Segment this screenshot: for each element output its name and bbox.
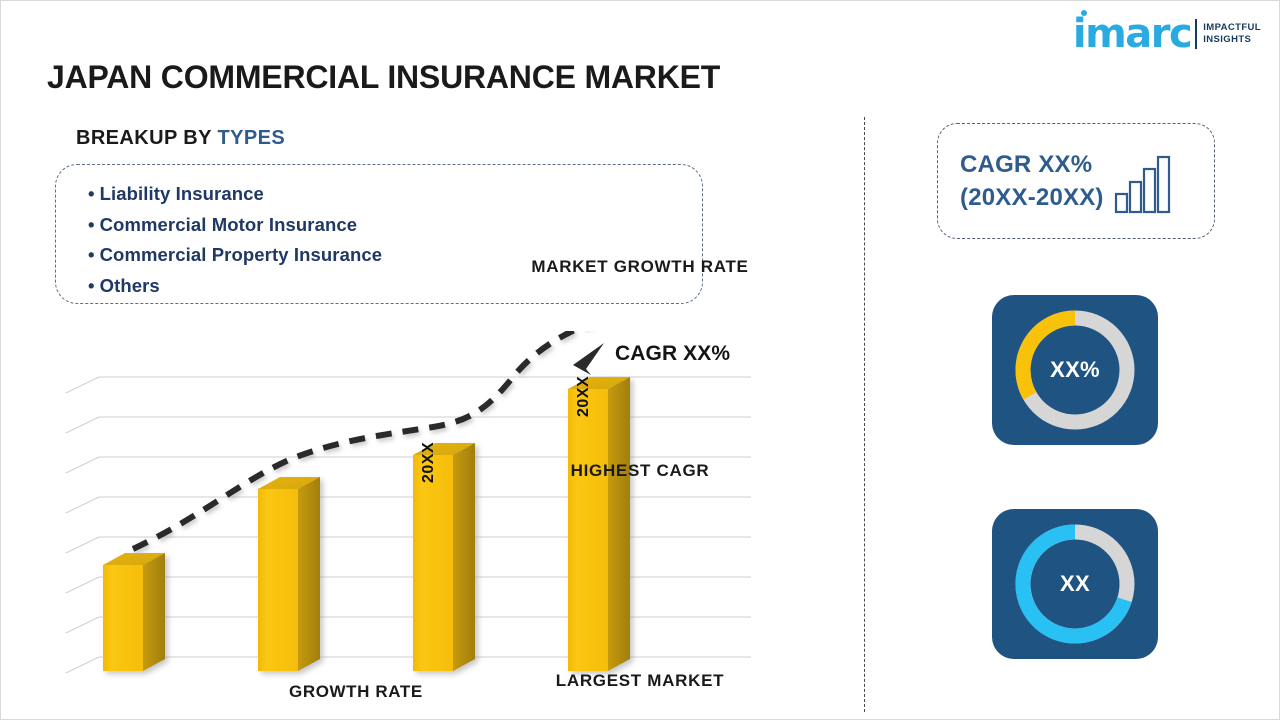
breakup-heading-accent: TYPES — [217, 127, 285, 149]
breakup-types-box: •Liability Insurance •Commercial Motor I… — [55, 164, 703, 304]
list-item-label: Liability Insurance — [100, 183, 264, 204]
bar-label-4: 20XX — [575, 376, 592, 417]
highest-cagr-label: HIGHEST CAGR — [1, 461, 1279, 481]
largest-market-tile: XX — [992, 509, 1158, 659]
logo-tagline-line1: IMPACTFUL — [1203, 22, 1261, 34]
logo-tagline-line2: INSIGHTS — [1203, 34, 1261, 46]
list-item-label: Others — [100, 275, 160, 296]
bullet-icon: • — [88, 214, 95, 235]
logo-dot-icon — [1081, 10, 1087, 16]
chart-cagr-annotation: CAGR XX% — [615, 342, 730, 366]
bar-chart-icon — [1114, 154, 1172, 214]
trend-arrow-icon — [573, 343, 604, 375]
imarc-logo: imarc IMPACTFUL INSIGHTS — [1073, 13, 1261, 55]
vertical-divider — [864, 117, 865, 712]
largest-market-value: XX — [992, 509, 1158, 659]
bar-4 — [568, 377, 630, 671]
breakup-heading: BREAKUP BY TYPES — [76, 127, 285, 150]
page-title: JAPAN COMMERCIAL INSURANCE MARKET — [47, 59, 720, 96]
bullet-icon: • — [88, 183, 95, 204]
chart-gridlines — [66, 377, 751, 673]
list-item: •Commercial Motor Insurance — [88, 210, 702, 241]
cagr-line-1: CAGR XX% — [960, 148, 1104, 181]
growth-rate-bar-chart: 20XX 20XX — [61, 331, 751, 721]
trend-line — [133, 331, 593, 549]
infographic-page: imarc IMPACTFUL INSIGHTS JAPAN COMMERCIA… — [0, 0, 1280, 720]
logo-divider — [1195, 19, 1197, 49]
highest-cagr-value: XX% — [992, 295, 1158, 445]
list-item: •Liability Insurance — [88, 179, 702, 210]
cagr-line-2: (20XX-20XX) — [960, 181, 1104, 214]
largest-market-label: LARGEST MARKET — [1, 671, 1279, 691]
highest-cagr-tile: XX% — [992, 295, 1158, 445]
logo-tagline: IMPACTFUL INSIGHTS — [1203, 22, 1261, 46]
logo-wordmark-text: imarc — [1073, 11, 1191, 57]
cagr-value-text: CAGR XX% (20XX-20XX) — [960, 148, 1104, 214]
list-item-label: Commercial Motor Insurance — [100, 214, 358, 235]
bar-2 — [258, 477, 320, 671]
breakup-heading-prefix: BREAKUP BY — [76, 127, 217, 149]
bullet-icon: • — [88, 275, 95, 296]
logo-wordmark: imarc — [1073, 14, 1191, 54]
chart-canvas: 20XX 20XX — [61, 331, 751, 721]
bar-1 — [103, 553, 165, 671]
market-growth-rate-label: MARKET GROWTH RATE — [1, 257, 1279, 277]
market-growth-rate-box: CAGR XX% (20XX-20XX) — [937, 123, 1215, 239]
